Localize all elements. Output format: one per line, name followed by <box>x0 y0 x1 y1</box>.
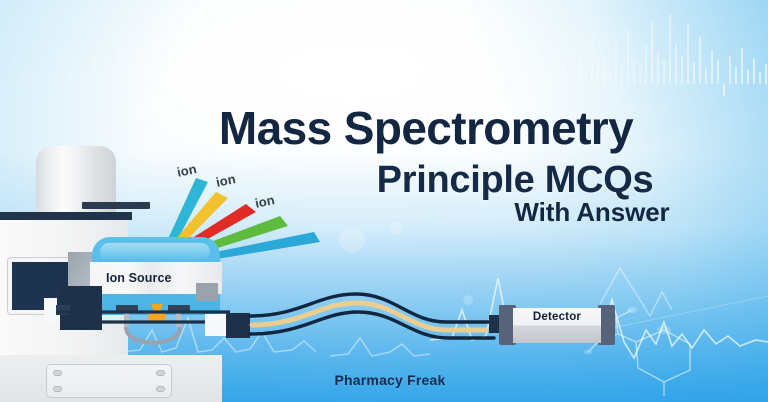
banner-canvas: ion ion ion Ion Source Detector <box>0 0 768 402</box>
title-line-3: With Answer <box>470 198 714 227</box>
detector-label: Detector <box>533 308 581 323</box>
machine-base-panel <box>46 364 172 398</box>
brand-watermark: Pharmacy Freak <box>250 372 530 388</box>
screw-top-left <box>53 370 62 376</box>
title-line-2: Principle MCQs <box>316 160 714 201</box>
screw-top-right <box>156 370 165 376</box>
screw-bottom-right <box>156 386 165 392</box>
detector-body: Detector <box>513 308 601 343</box>
screw-bottom-left <box>53 386 62 392</box>
title-line-1: Mass Spectrometry <box>138 105 714 151</box>
